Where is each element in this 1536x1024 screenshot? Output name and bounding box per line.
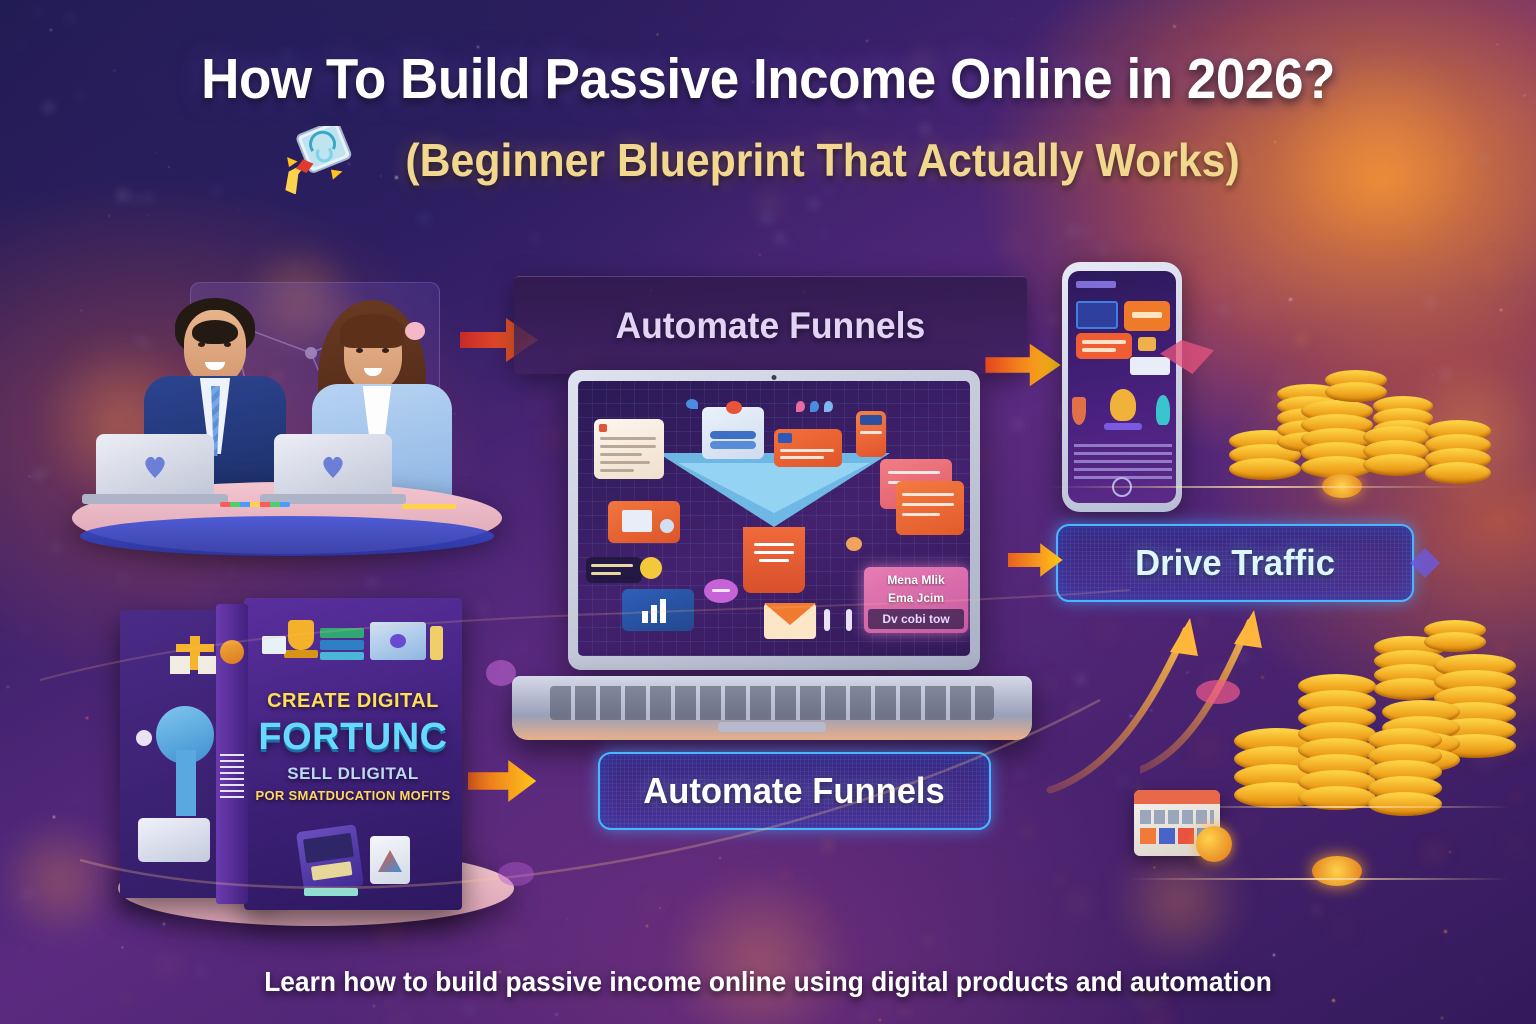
laptop-illustration: Mena Mlik Ema Jcim Dv cobi tow [512,370,1032,740]
smartphone-icon [1062,262,1182,512]
phone-illustration [1092,389,1152,431]
jar-icon [370,836,410,884]
mini-card [856,411,886,457]
phone-ui-block [1076,333,1132,359]
floating-shape [486,660,516,686]
phone-ui-block [1076,301,1118,329]
page-subtitle: (Beginner Blueprint That Actually Works) [406,133,1240,187]
drive-traffic-panel[interactable]: Drive Traffic [1056,524,1414,602]
keyboard[interactable] [550,686,994,720]
popup-line-3: Dv cobi tow [868,609,964,629]
product-box-line-3: SELL DLIGITAL [244,764,462,784]
heart-logo-icon [321,456,345,478]
phone-screen [1068,271,1176,503]
product-box-line-1: CREATE DIGITAL [244,690,462,713]
floating-shape [1196,680,1240,704]
rocket-blueprint-icon [264,126,360,194]
heart-logo-icon [143,456,167,478]
product-boxes-scene: CREATE DIGITAL FORTUNC SELL DLIGITAL POR… [112,592,514,932]
laptop-icon [96,434,214,500]
trophy-icon [288,620,314,650]
page-title: How To Build Passive Income Online in 20… [54,46,1482,112]
footer-caption: Learn how to build passive income online… [46,966,1490,998]
automate-funnels-label: Automate Funnels [644,770,945,812]
flower-accessory [405,322,425,340]
tablet-icon [296,824,364,894]
image-card [702,407,764,459]
email-card [774,429,842,467]
subtitle-row: (Beginner Blueprint That Actually Works) [0,126,1536,194]
popup-text-card[interactable]: Mena Mlik Ema Jcim Dv cobi tow [864,567,968,633]
laptop-icon [274,434,392,500]
automate-funnels-top-panel[interactable]: Automate Funnels [514,276,1027,374]
people-workspace-scene [72,276,502,576]
popup-line-1: Mena Mlik [864,573,968,587]
popup-line-2: Ema Jcim [864,591,968,605]
laptop-screen: Mena Mlik Ema Jcim Dv cobi tow [578,381,970,656]
webcam [772,375,777,380]
product-box-line-2: FORTUNC [244,716,462,759]
drive-traffic-label: Drive Traffic [1135,542,1335,584]
video-card [608,501,680,543]
bar-chart-icon [622,589,694,631]
coin-stacks-upper [1215,370,1515,520]
floating-shape [498,862,534,886]
clock-icon [640,557,662,579]
trackpad[interactable] [718,722,826,732]
laptop-lid: Mena Mlik Ema Jcim Dv cobi tow [568,370,980,670]
header-block: How To Build Passive Income Online in 20… [0,46,1536,194]
floating-shape [1410,548,1440,578]
phone-text-lines [1074,443,1172,479]
magnifier-coin-icon [1196,826,1232,862]
laptop-base [512,676,1032,740]
gold-coin-icon [1312,856,1362,886]
product-box-spine [216,604,248,904]
poster-canvas: How To Build Passive Income Online in 20… [0,0,1536,1024]
doc-card-right [896,481,964,535]
product-box-front: CREATE DIGITAL FORTUNC SELL DLIGITAL POR… [244,598,462,910]
automate-funnels-top-label: Automate Funnels [616,305,926,347]
laptop-icon [370,622,426,660]
dark-mini-card [586,557,642,583]
automate-funnels-panel[interactable]: Automate Funnels [598,752,991,830]
arrow-right-amber-icon [1008,538,1064,587]
envelope-icon [764,603,816,639]
phone-ui-block [1124,301,1170,331]
coin-stacks-lower [1228,618,1528,868]
tag-pill [704,579,738,603]
pencils [220,502,290,507]
document-card [594,419,664,479]
product-box-line-4: POR SMATDUCATION MOFITS [244,788,462,803]
